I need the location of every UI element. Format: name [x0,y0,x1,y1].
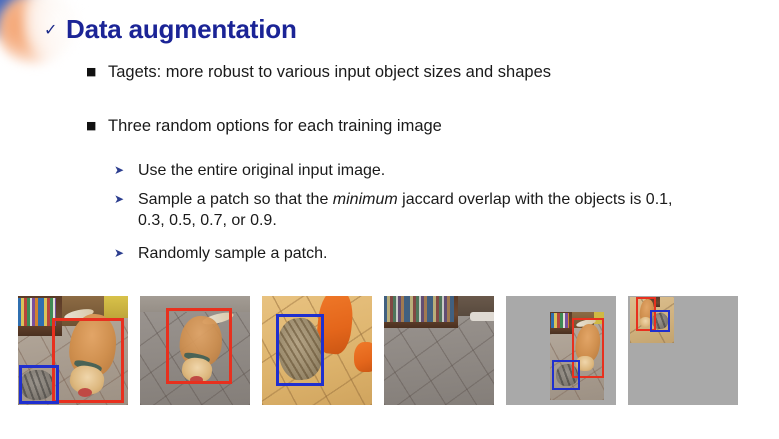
panel-1-full-original-image [18,296,128,405]
panel-2-cropped-patch-dog [140,296,250,405]
dog-tongue [78,388,92,397]
cat-body [20,370,54,400]
inset-original-image [550,312,604,400]
square-bullet-icon: ■ [86,116,108,136]
wall-strip [140,296,250,312]
books [18,298,56,326]
subbullet-text-random-patch: Randomly sample a patch. [138,243,327,264]
bookshelf [550,312,572,334]
page-title: Data augmentation [66,14,297,45]
subbullet-text-sample-patch-jaccard: Sample a patch so that the minimum jacca… [138,189,698,231]
books [551,313,569,328]
cat-body [556,364,578,386]
subbullet-item-random-patch: ➤ Randomly sample a patch. [114,243,327,264]
bookshelf [18,296,62,336]
photo-background-patch [384,296,494,405]
dog-tongue [190,376,203,384]
bullet-item-targets: ■ Tagets: more robust to various input o… [86,62,551,82]
subbullet-item-entire-image: ➤ Use the entire original input image. [114,160,385,181]
wall-panel [104,296,128,318]
jaccard-text-pre: Sample a patch so that the [138,191,333,208]
bullet-text-targets: Tagets: more robust to various input obj… [108,62,551,82]
subbullet-text-entire-image: Use the entire original input image. [138,160,385,181]
photo-patch-dog [140,296,250,405]
check-icon: ✓ [44,22,66,38]
jaccard-emphasis-minimum: minimum [333,191,398,208]
photo-patch-cat [262,296,372,405]
panel-6-zoom-out-small-canvas [628,296,738,405]
wall-panel [594,312,604,324]
panel-5-zoom-out-expanded-canvas [506,296,616,405]
inset-original-image [630,297,674,343]
books [384,296,454,322]
square-bullet-icon: ■ [86,62,108,82]
subbullet-item-sample-patch-jaccard: ➤ Sample a patch so that the minimum jac… [114,189,698,231]
cat-body [652,313,668,329]
arrow-bullet-icon: ➤ [114,243,138,264]
bullet-item-three-options: ■ Three random options for each training… [86,116,442,136]
orange-cat-secondary [354,342,372,372]
bullet-text-three-options: Three random options for each training i… [108,116,442,136]
arrow-bullet-icon: ➤ [114,160,138,181]
slide-title-row: ✓ Data augmentation [44,14,297,45]
dog-head [640,317,651,327]
arrow-bullet-icon: ➤ [114,189,138,210]
dog-head [576,356,594,371]
photo-full-original [18,296,128,405]
bookshelf [384,296,458,328]
panel-3-cropped-patch-cat [262,296,372,405]
floor-object [470,312,494,321]
panel-4-random-patch-background [384,296,494,405]
augmentation-example-strip [18,296,763,406]
corner-blue-gradient [0,0,48,40]
